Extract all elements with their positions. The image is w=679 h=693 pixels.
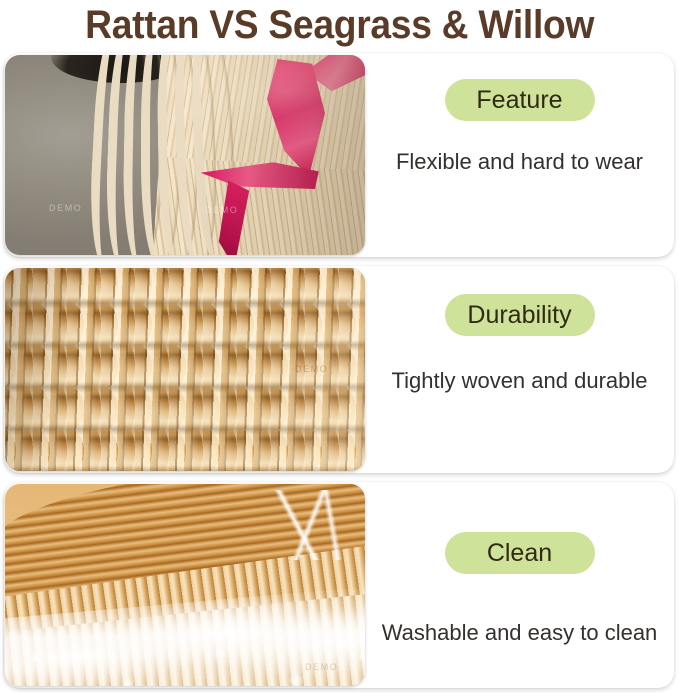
photo-woven-rattan-texture: DEMO xyxy=(5,268,365,471)
page-title: Rattan VS Seagrass & Willow xyxy=(85,4,594,46)
description-clean: Washable and easy to clean xyxy=(382,620,658,646)
photo-shading xyxy=(5,268,365,471)
description-durability: Tightly woven and durable xyxy=(391,368,647,394)
text-panel: Durability Tightly woven and durable xyxy=(365,266,674,473)
status-badge-durability: Durability xyxy=(445,294,595,336)
photo-shading xyxy=(5,55,365,255)
photo-canvas: DEMO xyxy=(5,484,365,686)
photo-soap-bubbles xyxy=(5,634,365,686)
comparison-card-clean: DEMO Clean Washable and easy to clean xyxy=(4,482,674,688)
card-inner: DEMO DEMO Feature Flexible and hard to w… xyxy=(4,53,674,257)
photo-loose-fibers xyxy=(237,490,365,560)
photo-rattan-cane-bundle: DEMO DEMO xyxy=(5,55,365,255)
comparison-card-feature: DEMO DEMO Feature Flexible and hard to w… xyxy=(4,53,674,257)
description-feature: Flexible and hard to wear xyxy=(396,149,643,175)
infographic-page: Rattan VS Seagrass & Willow xyxy=(0,0,679,693)
page-title-bar: Rattan VS Seagrass & Willow xyxy=(0,0,679,50)
photo-canvas: DEMO xyxy=(5,268,365,471)
card-inner: DEMO Durability Tightly woven and durabl… xyxy=(4,266,674,473)
text-panel: Clean Washable and easy to clean xyxy=(365,482,674,688)
status-badge-clean: Clean xyxy=(445,532,595,574)
text-panel: Feature Flexible and hard to wear xyxy=(365,53,674,257)
card-inner: DEMO Clean Washable and easy to clean xyxy=(4,482,674,688)
status-badge-feature: Feature xyxy=(445,79,595,121)
comparison-card-durability: DEMO Durability Tightly woven and durabl… xyxy=(4,266,674,473)
photo-canvas: DEMO DEMO xyxy=(5,55,365,255)
photo-basket-washing: DEMO xyxy=(5,484,365,686)
